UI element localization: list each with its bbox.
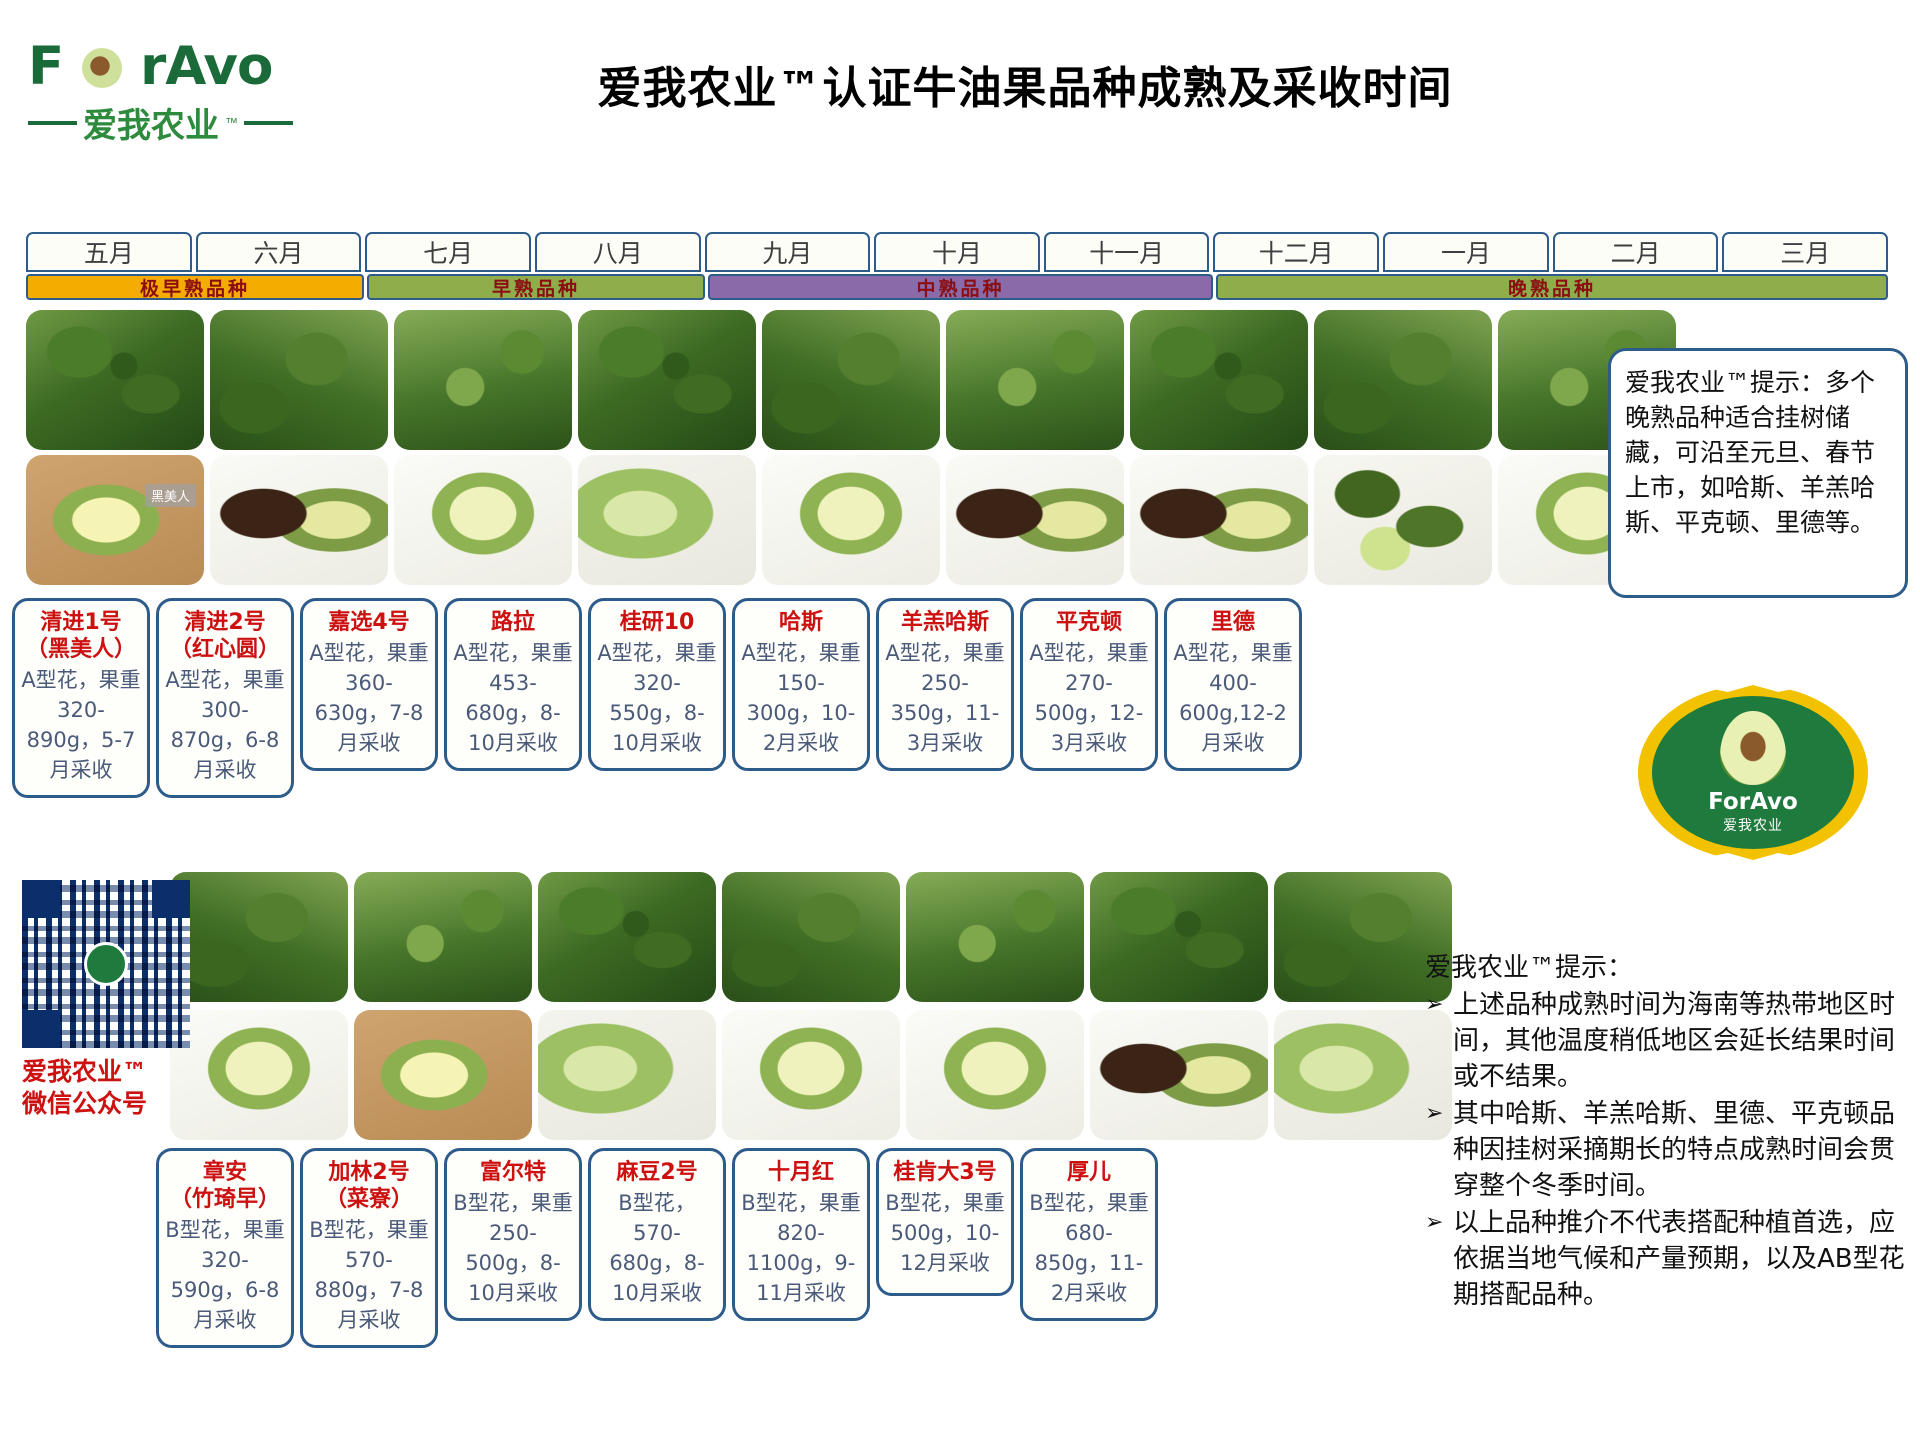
variety-name: 桂肯大3号 (885, 1159, 1005, 1186)
variety-description: B型花，570-680g，8-10月采收 (597, 1188, 717, 1308)
variety-card-2[interactable]: 加林2号（菜寮）B型花，果重570-880g，7-8月采收 (300, 1148, 438, 1348)
tip-item-3: ➢以上品种推介不代表搭配种植首选，应依据当地气候和产量预期，以及AB型花期搭配品… (1425, 1205, 1905, 1313)
fruit-pinkerton (1314, 455, 1492, 585)
tip-callout-late-varieties: 爱我农业™提示：多个晚熟品种适合挂树储藏，可沿至元旦、春节上市，如哈斯、羊羔哈斯… (1608, 348, 1908, 598)
seal-inner: ForAvo 爱我农业 (1652, 696, 1854, 849)
variety-name: 路拉 (453, 609, 573, 636)
variety-alias: （竹琦早） (165, 1186, 285, 1213)
variety-description: B型花，果重250-500g，8-10月采收 (453, 1188, 573, 1308)
qr-label-line-2: 微信公众号 (22, 1088, 197, 1120)
page-header: F rAvo 爱我农业 ™ 爱我农业™认证牛油果品种成熟及采收时间 (0, 0, 1920, 175)
variety-card-7[interactable]: 羊羔哈斯A型花，果重250-350g，11-3月采收 (876, 598, 1014, 771)
fruit-guiyan10 (762, 455, 940, 585)
variety-name: 清进1号 (21, 609, 141, 636)
tips-list-heading: 爱我农业™提示： (1425, 950, 1905, 986)
fruit-lula (578, 455, 756, 585)
month-cell-3: 七月 (365, 232, 531, 272)
tree-orchard-5 (762, 310, 940, 450)
logo-dash-right (244, 121, 293, 125)
brand-logo: F rAvo 爱我农业 ™ (28, 38, 293, 148)
logo-dash-left (28, 121, 77, 125)
variety-description: B型花，果重570-880g，7-8月采收 (309, 1215, 429, 1335)
row-a-variety-cards: 清进1号（黑美人）A型花，果重320-890g，5-7月采收清进2号（红心圆）A… (12, 598, 1302, 798)
variety-alias: （红心圆） (165, 636, 285, 663)
row-b-tree-photo-strip (170, 872, 1452, 1002)
seal-brand-sub: 爱我农业 (1723, 815, 1783, 835)
variety-description: A型花，果重400-600g,12-2月采收 (1173, 638, 1293, 758)
variety-alias: （黑美人） (21, 636, 141, 663)
tree-orchard-4 (578, 310, 756, 450)
tip-item-text: 上述品种成熟时间为海南等热带地区时间，其他温度稍低地区会延长结果时间或不结果。 (1453, 987, 1905, 1095)
month-cell-5: 九月 (705, 232, 871, 272)
variety-description: A型花，果重453-680g，8-10月采收 (453, 638, 573, 758)
variety-name: 章安 (165, 1159, 285, 1186)
variety-card-5[interactable]: 十月红B型花，果重820-1100g，9-11月采收 (732, 1148, 870, 1321)
photo-tag: 黑美人 (145, 484, 196, 507)
month-cell-11: 三月 (1722, 232, 1888, 272)
month-cell-9: 一月 (1383, 232, 1549, 272)
qr-label-line-1: 爱我农业™ (22, 1056, 197, 1088)
fruit-lambhass (1130, 455, 1308, 585)
variety-card-6[interactable]: 哈斯A型花，果重150-300g，10-2月采收 (732, 598, 870, 771)
tree-orchard-2 (210, 310, 388, 450)
variety-name: 桂研10 (597, 609, 717, 636)
row-b-variety-cards: 章安（竹琦早）B型花，果重320-590g，6-8月采收加林2号（菜寮）B型花，… (156, 1148, 1158, 1348)
variety-name: 里德 (1173, 609, 1293, 636)
variety-card-3[interactable]: 富尔特B型花，果重250-500g，8-10月采收 (444, 1148, 582, 1321)
row-a-tree-photo-strip (26, 310, 1676, 450)
avocado-logo-icon (82, 48, 122, 88)
variety-description: B型花，果重680-850g，11-2月采收 (1029, 1188, 1149, 1308)
arrow-bullet-icon: ➢ (1425, 1205, 1445, 1313)
tree-orchard-b5 (906, 872, 1084, 1002)
variety-description: B型花，果重500g，10-12月采收 (885, 1188, 1005, 1278)
variety-name: 羊羔哈斯 (885, 609, 1005, 636)
variety-description: A型花，果重320-890g，5-7月采收 (21, 665, 141, 785)
logo-subtitle: 爱我农业 ™ (28, 98, 293, 147)
logo-wordmark: F rAvo (28, 38, 293, 96)
logo-cn-name: 爱我农业 (83, 98, 219, 147)
page-title: 爱我农业™认证牛油果品种成熟及采收时间 (500, 52, 1550, 116)
variety-card-1[interactable]: 清进1号（黑美人）A型花，果重320-890g，5-7月采收 (12, 598, 150, 798)
maturity-band-3: 中熟品种 (708, 274, 1213, 300)
tree-orchard-b2 (354, 872, 532, 1002)
arrow-bullet-icon: ➢ (1425, 987, 1445, 1095)
month-cell-2: 六月 (196, 232, 362, 272)
variety-card-9[interactable]: 里德A型花，果重400-600g,12-2月采收 (1164, 598, 1302, 771)
variety-card-1[interactable]: 章安（竹琦早）B型花，果重320-590g，6-8月采收 (156, 1148, 294, 1348)
qr-code-icon[interactable] (22, 880, 190, 1048)
variety-name: 厚儿 (1029, 1159, 1149, 1186)
variety-description: A型花，果重150-300g，10-2月采收 (741, 638, 861, 758)
variety-description: A型花，果重250-350g，11-3月采收 (885, 638, 1005, 758)
variety-card-7[interactable]: 厚儿B型花，果重680-850g，11-2月采收 (1020, 1148, 1158, 1321)
tip-item-1: ➢上述品种成熟时间为海南等热带地区时间，其他温度稍低地区会延长结果时间或不结果。 (1425, 987, 1905, 1095)
arrow-bullet-icon: ➢ (1425, 1096, 1445, 1204)
maturity-band-4: 晚熟品种 (1216, 274, 1888, 300)
fruit-hongxinyuan (210, 455, 388, 585)
variety-card-3[interactable]: 嘉选4号A型花，果重360-630g，7-8月采收 (300, 598, 438, 771)
logo-tm-mark: ™ (225, 115, 238, 130)
variety-card-4[interactable]: 麻豆2号B型花，570-680g，8-10月采收 (588, 1148, 726, 1321)
variety-card-2[interactable]: 清进2号（红心圆）A型花，果重300-870g，6-8月采收 (156, 598, 294, 798)
logo-word-pre: F (28, 36, 63, 97)
variety-description: A型花，果重270-500g，12-3月采收 (1029, 638, 1149, 758)
tip-item-2: ➢其中哈斯、羊羔哈斯、里德、平克顿品种因挂树采摘期长的特点成熟时间会贯穿整个冬季… (1425, 1096, 1905, 1204)
variety-name: 哈斯 (741, 609, 861, 636)
tips-list: ➢上述品种成熟时间为海南等热带地区时间，其他温度稍低地区会延长结果时间或不结果。… (1425, 987, 1905, 1313)
variety-description: A型花，果重300-870g，6-8月采收 (165, 665, 285, 785)
maturity-band-1: 极早熟品种 (26, 274, 364, 300)
tree-orchard-8 (1314, 310, 1492, 450)
tip-item-text: 以上品种推介不代表搭配种植首选，应依据当地气候和产量预期，以及AB型花期搭配品种… (1453, 1205, 1905, 1313)
variety-name: 嘉选4号 (309, 609, 429, 636)
tip-callout-text: 爱我农业™提示：多个晚熟品种适合挂树储藏，可沿至元旦、春节上市，如哈斯、羊羔哈斯… (1625, 365, 1895, 540)
fruit-jiaxuan4 (394, 455, 572, 585)
variety-card-8[interactable]: 平克顿A型花，果重270-500g，12-3月采收 (1020, 598, 1158, 771)
month-cell-1: 五月 (26, 232, 192, 272)
tree-orchard-6 (946, 310, 1124, 450)
variety-card-5[interactable]: 桂研10A型花，果重320-550g，8-10月采收 (588, 598, 726, 771)
month-cell-4: 八月 (535, 232, 701, 272)
month-cell-10: 二月 (1553, 232, 1719, 272)
variety-description: B型花，果重820-1100g，9-11月采收 (741, 1188, 861, 1308)
fruit-fuerte (538, 1010, 716, 1140)
fruit-jialin2 (354, 1010, 532, 1140)
fruit-guikendа3 (1090, 1010, 1268, 1140)
variety-description: B型花，果重320-590g，6-8月采收 (165, 1215, 285, 1335)
fruit-hass (946, 455, 1124, 585)
tree-orchard-1 (26, 310, 204, 450)
variety-name: 加林2号 (309, 1159, 429, 1186)
variety-name: 富尔特 (453, 1159, 573, 1186)
month-cell-6: 十月 (874, 232, 1040, 272)
variety-name: 麻豆2号 (597, 1159, 717, 1186)
qr-center-logo (84, 942, 128, 986)
timeline-header: 五月六月七月八月九月十月十一月十二月一月二月三月 极早熟品种早熟品种中熟品种晚熟… (26, 232, 1888, 302)
seal-brand-name: ForAvo (1708, 789, 1798, 815)
qr-finder-top-left (22, 880, 60, 918)
variety-card-4[interactable]: 路拉A型花，果重453-680g，8-10月采收 (444, 598, 582, 771)
month-cell-7: 十一月 (1044, 232, 1210, 272)
row-b-fruit-photo-strip (170, 1010, 1452, 1140)
maturity-band-row: 极早熟品种早熟品种中熟品种晚熟品种 (26, 274, 1888, 300)
tips-list-block: 爱我农业™提示： ➢上述品种成熟时间为海南等热带地区时间，其他温度稍低地区会延长… (1425, 950, 1905, 1313)
qr-code-label: 爱我农业™微信公众号 (22, 1056, 197, 1120)
variety-description: A型花，果重360-630g，7-8月采收 (309, 638, 429, 758)
variety-description: A型花，果重320-550g，8-10月采收 (597, 638, 717, 758)
tree-orchard-3 (394, 310, 572, 450)
wechat-qr-block[interactable]: 爱我农业™微信公众号 (22, 880, 197, 1120)
fruit-shiyuehong (906, 1010, 1084, 1140)
certification-seal: ForAvo 爱我农业 (1638, 685, 1868, 860)
qr-finder-bottom-left (22, 1010, 60, 1048)
variety-card-6[interactable]: 桂肯大3号B型花，果重500g，10-12月采收 (876, 1148, 1014, 1296)
fruit-heimeiren: 黑美人 (26, 455, 204, 585)
tree-orchard-b6 (1090, 872, 1268, 1002)
month-row: 五月六月七月八月九月十月十一月十二月一月二月三月 (26, 232, 1888, 272)
variety-name: 十月红 (741, 1159, 861, 1186)
variety-name: 清进2号 (165, 609, 285, 636)
qr-finder-top-right (152, 880, 190, 918)
variety-alias: （菜寮） (309, 1186, 429, 1213)
row-a-fruit-photo-strip: 黑美人 (26, 455, 1676, 585)
variety-name: 平克顿 (1029, 609, 1149, 636)
tree-orchard-b4 (722, 872, 900, 1002)
avocado-seal-icon (1720, 711, 1786, 785)
tree-orchard-7 (1130, 310, 1308, 450)
logo-word-post: rAvo (140, 36, 272, 97)
tip-item-text: 其中哈斯、羊羔哈斯、里德、平克顿品种因挂树采摘期长的特点成熟时间会贯穿整个冬季时… (1453, 1096, 1905, 1204)
month-cell-8: 十二月 (1213, 232, 1379, 272)
maturity-band-2: 早熟品种 (367, 274, 705, 300)
tree-orchard-b3 (538, 872, 716, 1002)
fruit-madou2 (722, 1010, 900, 1140)
